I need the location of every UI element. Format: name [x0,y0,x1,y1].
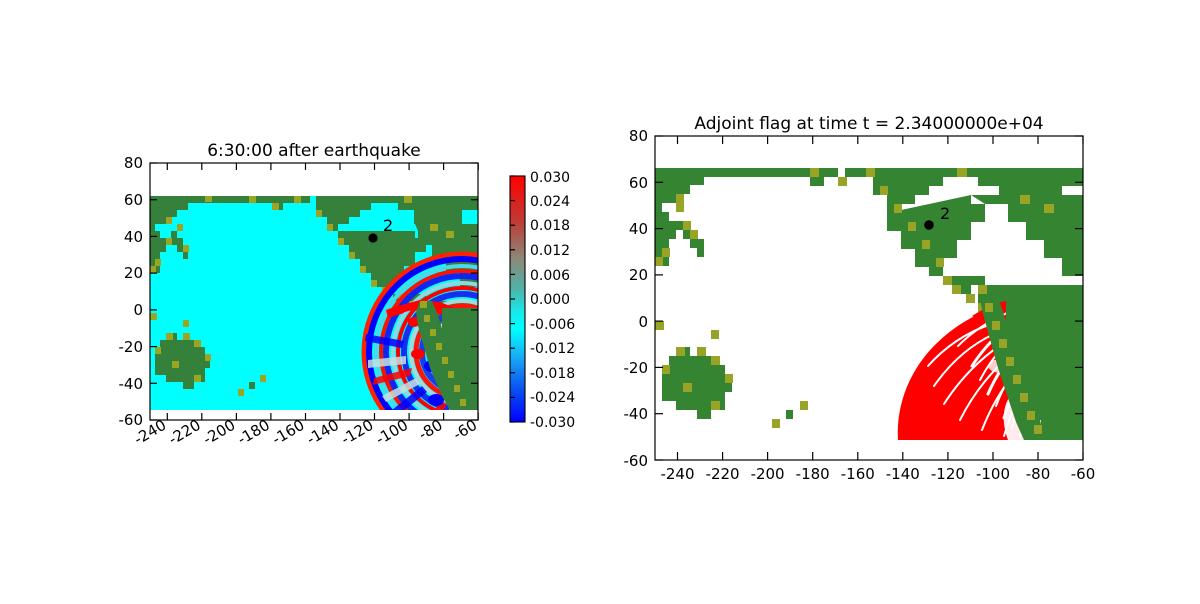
ytick-label-right-7: -60 [624,452,649,470]
gauge-label-right: 2 [940,204,950,223]
ytick-label-right-0: 80 [629,127,648,145]
map-raster-right [655,168,1083,440]
colorbar-tick-2: 0.018 [530,218,570,234]
gauge-dot-right [924,220,934,230]
ytick-label-left-4: 0 [133,301,143,319]
ytick-label-right-3: 20 [629,266,648,284]
colorbar-tick-5: 0.000 [530,292,570,308]
colorbar-tick-3: 0.012 [530,243,570,259]
figure-svg: 2 6:30:00 after earthquake [0,0,1200,600]
ytick-label-left-5: -20 [119,338,144,356]
panel-title-right: Adjoint flag at time t = 2.34000000e+04 [694,114,1043,134]
xtick-label-right-1: -220 [706,465,740,483]
xtick-label-right-0: -240 [660,465,694,483]
colorbar-tick-4: 0.006 [530,268,570,284]
colorbar-tick-0: 0.030 [530,170,570,186]
xtick-label-left-2: -200 [200,416,238,449]
ytick-label-right-1: 60 [629,174,648,192]
ytick-label-left-0: 80 [124,154,143,172]
xtick-label-right-6: -120 [931,465,965,483]
xtick-label-left-1: -220 [165,416,203,449]
xtick-label-right-8: -80 [1026,465,1051,483]
ytick-label-left-7: -60 [119,411,144,429]
xtick-label-right-2: -200 [751,465,785,483]
colorbar-tick-8: -0.018 [530,366,575,382]
xtick-label-right-7: -100 [976,465,1010,483]
ytick-label-left-1: 60 [124,191,143,209]
colorbar: 0.030 0.024 0.018 0.012 0.006 0.000 -0.0… [510,170,575,431]
xtick-label-right-3: -180 [796,465,830,483]
xtick-label-left-7: -100 [373,416,411,449]
xtick-label-right-9: -60 [1071,465,1096,483]
ytick-label-left-2: 40 [124,228,143,246]
colorbar-tick-7: -0.012 [530,341,575,357]
xtick-label-left-5: -140 [304,416,342,449]
colorbar-tick-10: -0.030 [530,415,575,431]
panel-title-left: 6:30:00 after earthquake [207,141,421,161]
ytick-label-left-3: 20 [124,264,143,282]
xtick-label-left-6: -120 [338,416,376,449]
figure-canvas: 2 6:30:00 after earthquake [0,0,1200,600]
ytick-label-left-6: -40 [119,375,144,393]
colorbar-tick-9: -0.024 [530,390,575,406]
colorbar-tick-6: -0.006 [530,317,575,333]
ytick-label-right-4: 0 [638,313,648,331]
ytick-label-right-5: -20 [624,359,649,377]
ytick-label-right-6: -40 [624,405,649,423]
panel-adjoint-flag: 2 Adjoint flag at time t = 2.34000000e+0… [624,114,1096,483]
gauge-label-left: 2 [383,216,393,235]
xtick-label-right-4: -160 [841,465,875,483]
xtick-label-left-3: -180 [234,416,272,449]
xtick-label-right-5: -140 [886,465,920,483]
xtick-label-left-4: -160 [269,416,307,449]
gauge-dot-left [368,233,377,242]
colorbar-tick-1: 0.024 [530,194,570,210]
panel-surface-elevation: 2 6:30:00 after earthquake [119,141,561,450]
ytick-label-right-2: 40 [629,220,648,238]
